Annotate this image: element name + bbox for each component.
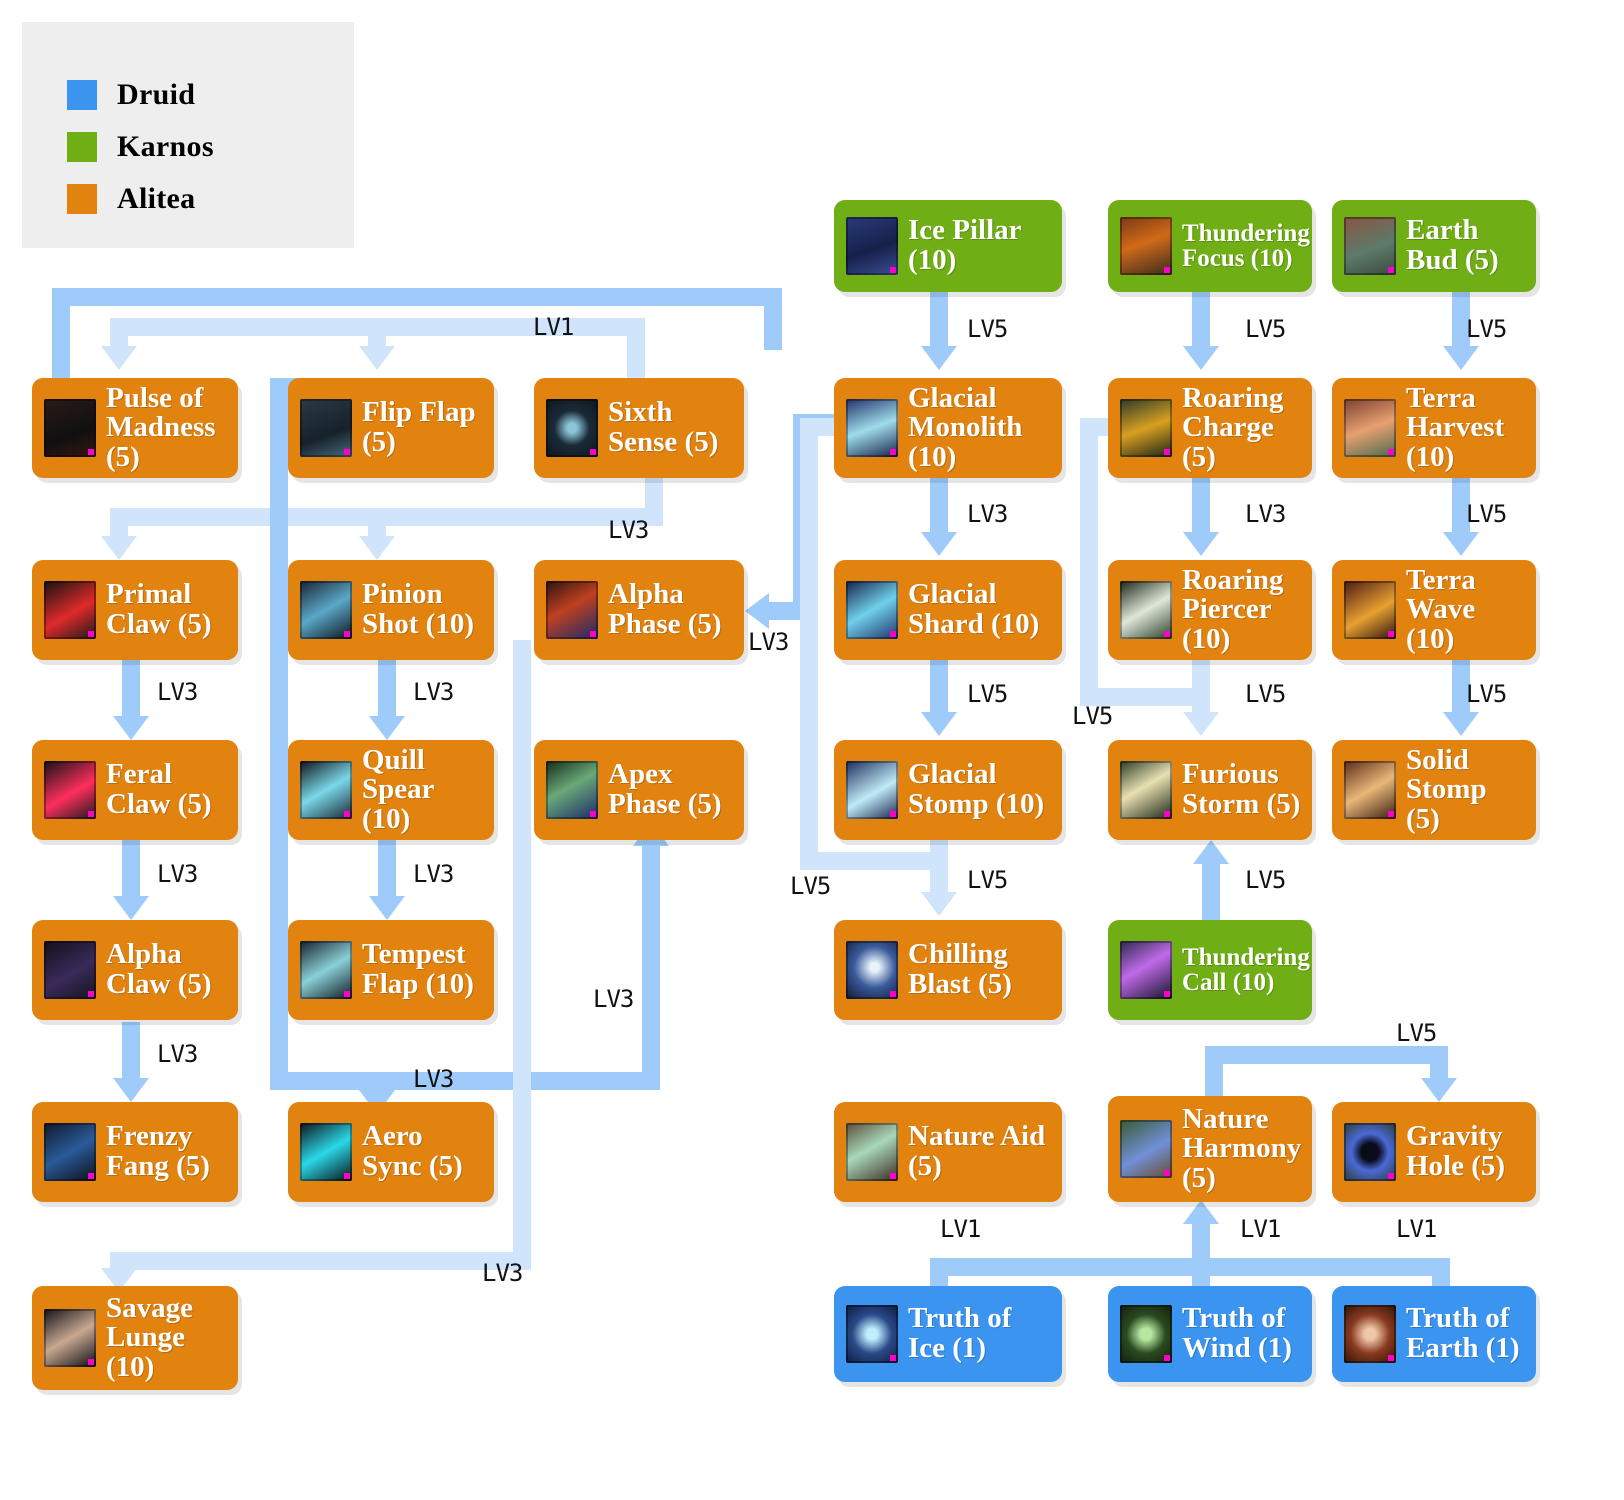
edge-tcall-fstorm-arrow — [1193, 840, 1229, 864]
node-glacial-stomp[interactable]: Glacial Stomp (10) — [834, 740, 1062, 840]
edge-truth-harmony-arrow — [1183, 1200, 1219, 1224]
edge-lv3-to-pinion-arrow — [359, 536, 395, 560]
edge-savagelunge-vert-right — [513, 640, 531, 1252]
node-label: Feral Claw (5) — [106, 760, 228, 819]
tempest-flap-icon — [300, 941, 352, 999]
edge-label-lv5-tfocus: LV5 — [1245, 315, 1285, 343]
node-label: Sixth Sense (5) — [608, 398, 734, 457]
node-pinion-shot[interactable]: Pinion Shot (10) — [288, 560, 494, 660]
node-roaring-piercer[interactable]: Roaring Piercer (10) — [1108, 560, 1312, 660]
node-label: Solid Stomp (5) — [1406, 746, 1526, 835]
node-terra-wave[interactable]: Terra Wave (10) — [1332, 560, 1536, 660]
node-nature-harmony[interactable]: Nature Harmony (5) — [1108, 1096, 1312, 1202]
node-truth-of-ice[interactable]: Truth of Ice (1) — [834, 1286, 1062, 1382]
edge-pinion-quill-arrow — [369, 716, 405, 740]
legend-panel: Druid Karnos Alitea — [22, 22, 354, 248]
node-label: Pulse of Madness (5) — [106, 384, 228, 473]
flip-flap-icon — [300, 399, 352, 457]
feral-claw-icon — [44, 761, 96, 819]
edge-icepillar-monolith-vert — [930, 292, 948, 350]
node-flip-flap[interactable]: Flip Flap (5) — [288, 378, 494, 478]
node-label: Frenzy Fang (5) — [106, 1122, 228, 1181]
node-label: Flip Flap (5) — [362, 398, 484, 457]
thundering-focus-icon — [1120, 217, 1172, 275]
node-label: Glacial Stomp (10) — [908, 760, 1052, 819]
legend-label-druid: Druid — [117, 78, 195, 112]
edge-rcharge-rail-vert — [1080, 418, 1098, 688]
node-glacial-shard[interactable]: Glacial Shard (10) — [834, 560, 1062, 660]
truth-of-ice-icon — [846, 1305, 898, 1363]
edge-label-lv3-primal: LV3 — [157, 678, 197, 706]
edge-harmony-gravity-vert-right — [1430, 1046, 1448, 1082]
edge-label-lv5-chilling: LV5 — [790, 872, 830, 900]
node-earth-bud[interactable]: Earth Bud (5) — [1332, 200, 1536, 292]
node-label: Nature Aid (5) — [908, 1122, 1052, 1181]
edge-label-lv5-harmony: LV5 — [1396, 1019, 1436, 1047]
edge-label-lv3-monolith: LV3 — [967, 500, 1007, 528]
edge-primal-feral-arrow — [113, 716, 149, 740]
edge-shard-stomp-arrow — [921, 712, 957, 736]
node-pulse-of-madness[interactable]: Pulse of Madness (5) — [32, 378, 238, 478]
edge-label-lv5-stomp: LV5 — [967, 866, 1007, 894]
alpha-claw-icon — [44, 941, 96, 999]
edge-tfocus-rcharge-vert — [1192, 292, 1210, 350]
node-label: Alpha Phase (5) — [608, 580, 734, 639]
node-truth-of-earth[interactable]: Truth of Earth (1) — [1332, 1286, 1536, 1382]
edge-feral-alpha-arrow — [113, 896, 149, 920]
primal-claw-icon — [44, 581, 96, 639]
node-label: Ice Pillar (10) — [908, 216, 1052, 275]
edge-lv1-to-pulse-arrow — [101, 346, 137, 370]
edge-tfocus-rcharge-arrow — [1183, 346, 1219, 370]
earth-bud-icon — [1344, 217, 1396, 275]
edge-label-lv3-alphaphase: LV3 — [748, 628, 788, 656]
edge-label-lv3-alphaclaw: LV3 — [157, 1040, 197, 1068]
legend-swatch-druid — [67, 80, 97, 110]
edge-stomp-chilling-arrow — [921, 892, 957, 916]
solid-stomp-icon — [1344, 761, 1396, 819]
edge-shard-stomp-vert — [930, 658, 948, 716]
edge-monolith-shard-arrow — [921, 532, 957, 556]
node-label: Apex Phase (5) — [608, 760, 734, 819]
edge-truth-bus-horz — [930, 1258, 1450, 1276]
edge-sixthsense-lv1-vert-left — [52, 288, 70, 378]
edge-alpha-frenzy-arrow — [113, 1078, 149, 1102]
legend-item-karnos: Karnos — [67, 130, 214, 164]
edge-label-lv5-terraharvest: LV5 — [1466, 500, 1506, 528]
legend-item-druid: Druid — [67, 78, 195, 112]
node-label: Chilling Blast (5) — [908, 940, 1052, 999]
edge-label-lv3-savagelunge: LV3 — [482, 1259, 522, 1287]
node-frenzy-fang[interactable]: Frenzy Fang (5) — [32, 1102, 238, 1202]
truth-of-earth-icon — [1344, 1305, 1396, 1363]
node-label: Alpha Claw (5) — [106, 940, 228, 999]
edge-label-lv5-rcharge-rail: LV5 — [1072, 702, 1112, 730]
edge-label-lv1-earth: LV1 — [1396, 1215, 1436, 1243]
alpha-phase-icon — [546, 581, 598, 639]
legend-swatch-karnos — [67, 132, 97, 162]
node-ice-pillar[interactable]: Ice Pillar (10) — [834, 200, 1062, 292]
sixth-sense-icon — [546, 399, 598, 457]
edge-label-lv5-tcall: LV5 — [1245, 866, 1285, 894]
node-label: Roaring Piercer (10) — [1182, 566, 1302, 655]
node-aero-sync[interactable]: Aero Sync (5) — [288, 1102, 494, 1202]
node-nature-aid[interactable]: Nature Aid (5) — [834, 1102, 1062, 1202]
edge-label-lv1-top: LV1 — [533, 313, 573, 341]
node-label: Furious Storm (5) — [1182, 760, 1302, 819]
node-feral-claw[interactable]: Feral Claw (5) — [32, 740, 238, 840]
edge-label-lv3-feral: LV3 — [157, 860, 197, 888]
node-label: Thundering Call (10) — [1182, 945, 1310, 996]
node-label: Roaring Charge (5) — [1182, 384, 1302, 473]
edge-label-lv5-icepillar: LV5 — [967, 315, 1007, 343]
edge-monolith-shard-vert — [930, 478, 948, 536]
legend-label-alitea: Alitea — [117, 182, 195, 216]
edge-lv3-to-primal-vert — [110, 508, 128, 538]
edge-label-lv5-terrawave: LV5 — [1466, 680, 1506, 708]
node-solid-stomp[interactable]: Solid Stomp (5) — [1332, 740, 1536, 840]
edge-label-lv3-quill: LV3 — [413, 860, 453, 888]
edge-monolith-chilling-horz — [800, 852, 930, 870]
edge-lv1-to-flipflap-vert — [368, 318, 386, 348]
node-label: Glacial Monolith (10) — [908, 384, 1052, 473]
frenzy-fang-icon — [44, 1123, 96, 1181]
edge-feral-alpha-vert — [122, 840, 140, 900]
edge-rcharge-rpiercer-vert — [1192, 478, 1210, 536]
node-furious-storm[interactable]: Furious Storm (5) — [1108, 740, 1312, 840]
gravity-hole-icon — [1344, 1123, 1396, 1181]
node-savage-lunge[interactable]: Savage Lunge (10) — [32, 1286, 238, 1390]
nature-harmony-icon — [1120, 1120, 1172, 1178]
edge-terrawave-solidstomp-arrow — [1443, 712, 1479, 736]
legend-label-karnos: Karnos — [117, 130, 214, 164]
edge-lv3-to-primal-arrow — [101, 536, 137, 560]
node-sixth-sense[interactable]: Sixth Sense (5) — [534, 378, 744, 478]
node-label: Truth of Ice (1) — [908, 1304, 1052, 1363]
apex-phase-icon — [546, 761, 598, 819]
glacial-monolith-icon — [846, 399, 898, 457]
edge-apexphase-vert — [642, 845, 660, 1090]
node-label: Savage Lunge (10) — [106, 1294, 228, 1383]
edge-lv1-branch-vert-right — [627, 318, 645, 378]
chilling-blast-icon — [846, 941, 898, 999]
node-tempest-flap[interactable]: Tempest Flap (10) — [288, 920, 494, 1020]
node-thundering-focus[interactable]: Thundering Focus (10) — [1108, 200, 1312, 292]
terra-harvest-icon — [1344, 399, 1396, 457]
edge-label-lv3-aerosync: LV3 — [413, 1065, 453, 1093]
node-glacial-monolith[interactable]: Glacial Monolith (10) — [834, 378, 1062, 478]
edge-rpiercer-fstorm-arrow — [1183, 712, 1219, 736]
edge-stomp-chilling-vert — [930, 838, 948, 896]
node-chilling-blast[interactable]: Chilling Blast (5) — [834, 920, 1062, 1020]
edge-label-lv1-ice: LV1 — [940, 1215, 980, 1243]
node-label: Earth Bud (5) — [1406, 216, 1526, 275]
edge-pinion-quill-vert — [378, 660, 396, 720]
edge-rcharge-rpiercer-arrow — [1183, 532, 1219, 556]
edge-flipflap-rail-vert — [270, 378, 288, 1090]
terra-wave-icon — [1344, 581, 1396, 639]
node-label: Primal Claw (5) — [106, 580, 228, 639]
truth-of-wind-icon — [1120, 1305, 1172, 1363]
roaring-piercer-icon — [1120, 581, 1172, 639]
edge-harmony-gravity-arrow — [1421, 1078, 1457, 1102]
edge-label-lv5-earthbud: LV5 — [1466, 315, 1506, 343]
edge-monolith-chilling-vert — [800, 418, 818, 870]
edge-icepillar-monolith-arrow — [921, 346, 957, 370]
aero-sync-icon — [300, 1123, 352, 1181]
node-label: Aero Sync (5) — [362, 1122, 484, 1181]
edge-label-lv5-shard: LV5 — [967, 680, 1007, 708]
edge-quill-tempest-arrow — [369, 896, 405, 920]
edge-lv3-to-pinion-vert — [368, 508, 386, 538]
node-label: Nature Harmony (5) — [1182, 1105, 1302, 1194]
thundering-call-icon — [1120, 941, 1172, 999]
node-thundering-call[interactable]: Thundering Call (10) — [1108, 920, 1312, 1020]
node-alpha-phase[interactable]: Alpha Phase (5) — [534, 560, 744, 660]
node-label: Terra Wave (10) — [1406, 566, 1526, 655]
node-label: Quill Spear (10) — [362, 746, 484, 835]
node-alpha-claw[interactable]: Alpha Claw (5) — [32, 920, 238, 1020]
node-gravity-hole[interactable]: Gravity Hole (5) — [1332, 1102, 1536, 1202]
glacial-stomp-icon — [846, 761, 898, 819]
legend-item-alitea: Alitea — [67, 182, 195, 216]
edge-label-lv3-rcharge: LV3 — [1245, 500, 1285, 528]
node-label: Truth of Earth (1) — [1406, 1304, 1526, 1363]
node-label: Truth of Wind (1) — [1182, 1304, 1302, 1363]
node-label: Thundering Focus (10) — [1182, 221, 1310, 272]
edge-harmony-gravity-vert-left — [1205, 1046, 1223, 1096]
node-label: Gravity Hole (5) — [1406, 1122, 1526, 1181]
edge-label-lv3-apexphase: LV3 — [593, 985, 633, 1013]
node-apex-phase[interactable]: Apex Phase (5) — [534, 740, 744, 840]
edge-sixthsense-lv3-horz — [110, 508, 663, 526]
edge-tcall-fstorm-vert — [1202, 862, 1220, 920]
edge-alpha-frenzy-vert — [122, 1022, 140, 1082]
pulse-of-madness-icon — [44, 399, 96, 457]
furious-storm-icon — [1120, 761, 1172, 819]
edge-savagelunge-horz — [110, 1252, 531, 1270]
edge-label-lv3-sixthsense: LV3 — [608, 516, 648, 544]
edge-label-lv1-wind: LV1 — [1240, 1215, 1280, 1243]
edge-flipflap-rail-bottom-horz — [270, 1072, 660, 1090]
node-label: Glacial Shard (10) — [908, 580, 1052, 639]
edge-primal-feral-vert — [122, 660, 140, 720]
node-terra-harvest[interactable]: Terra Harvest (10) — [1332, 378, 1536, 478]
node-label: Tempest Flap (10) — [362, 940, 484, 999]
edge-rpiercer-fstorm-vert — [1192, 658, 1210, 716]
node-label: Terra Harvest (10) — [1406, 384, 1526, 473]
edge-label-lv3-pinion: LV3 — [413, 678, 453, 706]
edge-quill-tempest-vert — [378, 840, 396, 900]
ice-pillar-icon — [846, 217, 898, 275]
edge-lv1-to-flipflap-arrow — [359, 346, 395, 370]
nature-aid-icon — [846, 1123, 898, 1181]
glacial-shard-icon — [846, 581, 898, 639]
skill-tree-canvas: Druid Karnos Alitea LV1 LV3 LV3 LV3 LV3 — [0, 0, 1624, 1500]
savage-lunge-icon — [44, 1309, 96, 1367]
pinion-shot-icon — [300, 581, 352, 639]
roaring-charge-icon — [1120, 399, 1172, 457]
edge-earthbud-terraharvest-arrow — [1443, 346, 1479, 370]
node-quill-spear[interactable]: Quill Spear (10) — [288, 740, 494, 840]
node-primal-claw[interactable]: Primal Claw (5) — [32, 560, 238, 660]
quill-spear-icon — [300, 761, 352, 819]
node-label: Pinion Shot (10) — [362, 580, 484, 639]
edge-terraharvest-terrawave-arrow — [1443, 532, 1479, 556]
node-roaring-charge[interactable]: Roaring Charge (5) — [1108, 378, 1312, 478]
edge-harmony-gravity-horz — [1205, 1046, 1448, 1064]
edge-sixthsense-lv1-horz-top — [52, 288, 782, 306]
legend-swatch-alitea — [67, 184, 97, 214]
node-truth-of-wind[interactable]: Truth of Wind (1) — [1108, 1286, 1312, 1382]
edge-label-lv5-rpiercer: LV5 — [1245, 680, 1285, 708]
edge-lv1-to-pulse-vert — [110, 318, 128, 348]
